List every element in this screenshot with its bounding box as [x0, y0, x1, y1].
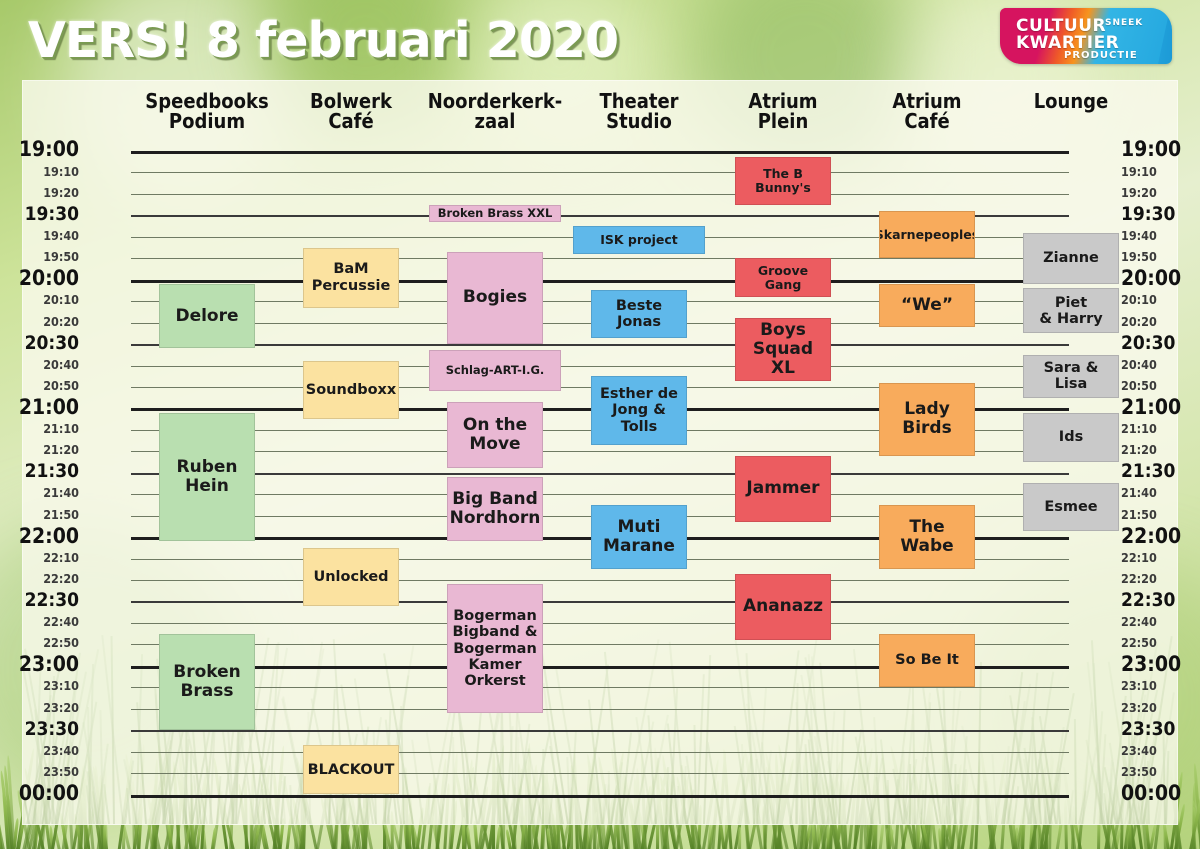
event-block[interactable]: Broken Brass XXL [429, 205, 561, 222]
time-label-2030: 20:30 [25, 334, 79, 353]
event-block[interactable]: Zianne [1023, 233, 1119, 284]
time-label-2350: 23:50 [1121, 766, 1157, 779]
event-block[interactable]: Ananazz [735, 574, 831, 640]
time-label-2200: 22:00 [1121, 526, 1181, 547]
event-block[interactable]: The Wabe [879, 505, 975, 569]
time-label-2020: 20:20 [43, 316, 79, 329]
time-label-2150: 21:50 [1121, 509, 1157, 522]
time-label-2120: 21:20 [1121, 444, 1157, 457]
time-label-2340: 23:40 [1121, 745, 1157, 758]
time-label-2210: 22:10 [1121, 552, 1157, 565]
grass-blade [878, 822, 885, 849]
time-label-2320: 23:20 [43, 702, 79, 715]
time-label-2320: 23:20 [1121, 702, 1157, 715]
event-block[interactable]: Jammer [735, 456, 831, 522]
event-block[interactable]: Unlocked [303, 548, 399, 606]
column-header-lounge: Lounge [977, 91, 1165, 111]
time-label-2050: 20:50 [43, 380, 79, 393]
grid-line [131, 709, 1069, 710]
time-label-2120: 21:20 [43, 444, 79, 457]
time-label-2020: 20:20 [1121, 316, 1157, 329]
grid-line [131, 258, 1069, 259]
time-label-2230: 22:30 [25, 591, 79, 610]
time-label-0000: 00:00 [19, 783, 79, 804]
grid-line [131, 601, 1069, 603]
time-label-2100: 21:00 [1121, 397, 1181, 418]
time-label-2240: 22:40 [1121, 616, 1157, 629]
event-block[interactable]: ISK project [573, 226, 705, 254]
event-block[interactable]: Delore [159, 284, 255, 348]
event-block[interactable]: “We” [879, 284, 975, 327]
time-label-2220: 22:20 [1121, 573, 1157, 586]
time-label-1930: 19:30 [25, 205, 79, 224]
grass-blade [738, 827, 741, 849]
page-title: VERS! 8 februari 2020 [28, 12, 618, 69]
time-label-2210: 22:10 [43, 552, 79, 565]
time-label-1940: 19:40 [43, 230, 79, 243]
time-label-1910: 19:10 [1121, 166, 1157, 179]
time-label-2010: 20:10 [43, 294, 79, 307]
time-label-1950: 19:50 [43, 251, 79, 264]
time-label-1940: 19:40 [1121, 230, 1157, 243]
grass-blade [495, 826, 501, 849]
grid-line [131, 730, 1069, 732]
time-label-2030: 20:30 [1121, 334, 1175, 353]
time-label-2250: 22:50 [43, 637, 79, 650]
grid-line [131, 494, 1069, 495]
event-block[interactable]: BLACKOUT [303, 745, 399, 794]
time-label-2110: 21:10 [1121, 423, 1157, 436]
time-label-2350: 23:50 [43, 766, 79, 779]
time-label-2140: 21:40 [1121, 487, 1157, 500]
time-label-2140: 21:40 [43, 487, 79, 500]
time-label-1900: 19:00 [1121, 139, 1181, 160]
grid-line [131, 172, 1069, 173]
grid-line [131, 280, 1069, 283]
grid-line [131, 580, 1069, 581]
grass-blade [1163, 823, 1167, 849]
event-block[interactable]: BaM Percussie [303, 248, 399, 308]
grid-line [131, 344, 1069, 346]
event-block[interactable]: Boys Squad XL [735, 318, 831, 380]
time-label-2130: 21:30 [1121, 462, 1175, 481]
grass-blade [294, 822, 298, 849]
time-label-2040: 20:40 [1121, 359, 1157, 372]
time-label-2230: 22:30 [1121, 591, 1175, 610]
time-label-2250: 22:50 [1121, 637, 1157, 650]
event-block[interactable]: On the Move [447, 402, 543, 468]
time-label-2220: 22:20 [43, 573, 79, 586]
grid-line [131, 795, 1069, 798]
schedule-panel: 19:0019:0019:1019:1019:2019:2019:3019:30… [22, 80, 1178, 825]
schedule-grid: 19:0019:0019:1019:1019:2019:2019:3019:30… [23, 81, 1177, 824]
time-label-2310: 23:10 [43, 680, 79, 693]
grid-line [131, 687, 1069, 688]
grid-line [131, 366, 1069, 367]
event-block[interactable]: Beste Jonas [591, 290, 687, 337]
grass-blade [103, 823, 106, 849]
time-label-2330: 23:30 [25, 720, 79, 739]
grid-line [131, 151, 1069, 154]
time-label-2000: 20:00 [1121, 268, 1181, 289]
event-block[interactable]: Lady Birds [879, 383, 975, 456]
event-block[interactable]: Skarnepeoples [879, 211, 975, 258]
event-block[interactable]: So Be It [879, 634, 975, 688]
time-label-1900: 19:00 [19, 139, 79, 160]
event-block[interactable]: Muti Marane [591, 505, 687, 569]
time-label-2000: 20:00 [19, 268, 79, 289]
time-label-1920: 19:20 [43, 187, 79, 200]
logo-line-sneek: SNEEK [1105, 18, 1143, 28]
grid-line [131, 194, 1069, 195]
event-block[interactable]: Sara & Lisa [1023, 355, 1119, 398]
time-label-2130: 21:30 [25, 462, 79, 481]
event-block[interactable]: Ids [1023, 413, 1119, 462]
event-block[interactable]: Soundboxx [303, 361, 399, 419]
time-label-1950: 19:50 [1121, 251, 1157, 264]
time-label-2050: 20:50 [1121, 380, 1157, 393]
time-label-2040: 20:40 [43, 359, 79, 372]
time-label-2300: 23:00 [1121, 654, 1181, 675]
logo-line-productie: PRODUCTIE [1064, 50, 1138, 61]
event-block[interactable]: Schlag-ART-I.G. [429, 350, 561, 391]
time-label-1920: 19:20 [1121, 187, 1157, 200]
cultuur-kwartier-logo: CULTUUR SNEEK KWARTIER PRODUCTIE [1000, 8, 1172, 64]
event-block[interactable]: Piet & Harry [1023, 288, 1119, 333]
time-label-2300: 23:00 [19, 654, 79, 675]
event-block[interactable]: Big Band Nordhorn [447, 477, 543, 541]
grid-line [131, 473, 1069, 475]
time-label-2240: 22:40 [43, 616, 79, 629]
time-label-2200: 22:00 [19, 526, 79, 547]
time-label-1910: 19:10 [43, 166, 79, 179]
time-label-2330: 23:30 [1121, 720, 1175, 739]
event-block[interactable]: Esther de Jong & Tolls [591, 376, 687, 445]
event-block[interactable]: Ruben Hein [159, 413, 255, 542]
time-label-2310: 23:10 [1121, 680, 1157, 693]
event-block[interactable]: Bogerman Bigband & Bogerman Kamer Orkers… [447, 584, 543, 713]
time-label-2150: 21:50 [43, 509, 79, 522]
grid-line [131, 752, 1069, 753]
grid-line [131, 623, 1069, 624]
time-label-2110: 21:10 [43, 423, 79, 436]
time-label-2340: 23:40 [43, 745, 79, 758]
time-label-1930: 19:30 [1121, 205, 1175, 224]
time-label-0000: 00:00 [1121, 783, 1181, 804]
event-block[interactable]: Groove Gang [735, 258, 831, 297]
event-block[interactable]: Esmee [1023, 483, 1119, 530]
event-block[interactable]: Bogies [447, 252, 543, 344]
time-label-2010: 20:10 [1121, 294, 1157, 307]
event-block[interactable]: The B Bunny's [735, 157, 831, 204]
event-block[interactable]: Broken Brass [159, 634, 255, 731]
time-label-2100: 21:00 [19, 397, 79, 418]
grid-line [131, 773, 1069, 774]
